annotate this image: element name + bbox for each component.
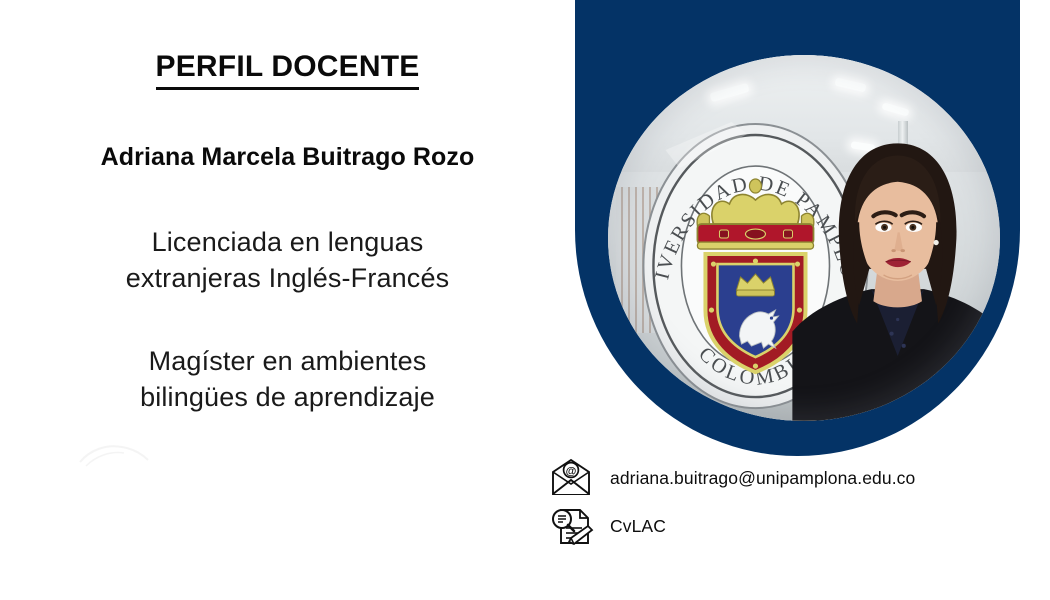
contact-row-email[interactable]: @ adriana.buitrago@unipamplona.edu.co xyxy=(548,454,1018,502)
photo-panel: UNIVERSIDAD DE PAMPLONA COLOMBIA xyxy=(575,0,1020,456)
degree-line-2: extranjeras Inglés-Francés xyxy=(126,260,450,296)
contact-row-cvlac[interactable]: CvLAC xyxy=(548,502,1018,550)
contact-list: @ adriana.buitrago@unipamplona.edu.co xyxy=(548,454,1018,550)
degree-line-1: Magíster en ambientes xyxy=(140,343,435,379)
cvlac-label: CvLAC xyxy=(610,516,666,537)
teacher-profile-slide: PERFIL DOCENTE Adriana Marcela Buitrago … xyxy=(0,0,1050,600)
cv-document-search-icon xyxy=(548,506,594,546)
email-address: adriana.buitrago@unipamplona.edu.co xyxy=(610,468,915,489)
envelope-at-icon: @ xyxy=(548,458,594,498)
teacher-name: Adriana Marcela Buitrago Rozo xyxy=(101,142,475,172)
avatar: UNIVERSIDAD DE PAMPLONA COLOMBIA xyxy=(608,55,1000,421)
degree-line-1: Licenciada en lenguas xyxy=(126,224,450,260)
degree-line-2: bilingües de aprendizaje xyxy=(140,379,435,415)
profile-text-column: PERFIL DOCENTE Adriana Marcela Buitrago … xyxy=(0,0,575,600)
photo-vignette xyxy=(608,55,1000,421)
degree-masters: Magíster en ambientes bilingües de apren… xyxy=(140,343,435,415)
degree-undergraduate: Licenciada en lenguas extranjeras Inglés… xyxy=(126,224,450,296)
svg-text:@: @ xyxy=(566,465,577,477)
page-title: PERFIL DOCENTE xyxy=(156,50,420,90)
